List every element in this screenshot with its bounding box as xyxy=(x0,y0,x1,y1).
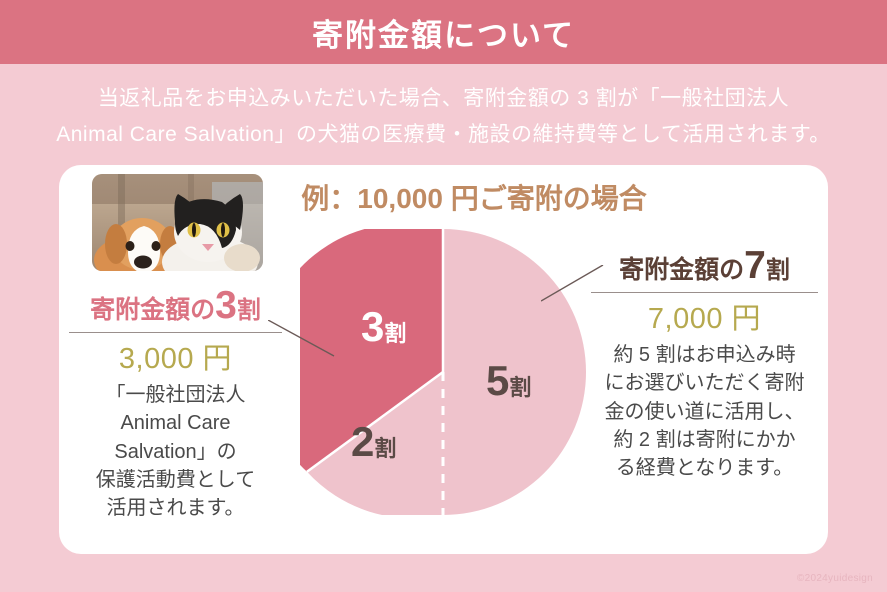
page-title: 寄附金額について xyxy=(312,10,575,55)
donation-pie-chart: 3割 5割 2割 xyxy=(300,229,586,515)
dog-and-cat-photo xyxy=(92,174,263,271)
callout-right-body-line: にお選びいただく寄附 xyxy=(581,369,828,397)
callout-right-body: 約 5 割はお申込み時 にお選びいただく寄附 金の使い道に活用し、 約 2 割は… xyxy=(581,341,828,483)
callout-right-body-line: 約 2 割は寄附にかか xyxy=(581,426,828,454)
pie-label-3wari: 3割 xyxy=(361,306,406,348)
callout-left-body-line: Animal Care xyxy=(59,409,292,437)
callout-left-body-line: 活用されます。 xyxy=(59,494,292,522)
callout-left-body-line: 「一般社団法人 xyxy=(59,381,292,409)
example-heading: 例：10,000 円ご寄附の場合 xyxy=(274,177,674,217)
callout-right-body-line: る経費となります。 xyxy=(581,454,828,482)
callout-left-rule xyxy=(69,332,282,333)
lead-line-2: Animal Care Salvation」の犬猫の医療費・施設の維持費等として… xyxy=(56,118,831,148)
callout-right: 寄附金額の7割 7,000 円 約 5 割はお申込み時 にお選びいただく寄附 金… xyxy=(581,245,828,483)
callout-left-body-line: Salvation」の xyxy=(59,438,292,466)
lead-line-1: 当返礼品をお申込みいただいた場合、寄附金額の 3 割が「一般社団法人 xyxy=(98,82,789,112)
photo-illustration xyxy=(92,174,263,271)
content-card: 例：10,000 円ご寄附の場合 3割 5割 2割 xyxy=(59,165,828,554)
pie-svg xyxy=(300,229,586,515)
callout-left-body: 「一般社団法人 Animal Care Salvation」の 保護活動費として… xyxy=(59,381,292,523)
callout-right-rule xyxy=(591,292,818,293)
callout-left: 寄附金額の3割 3,000 円 「一般社団法人 Animal Care Salv… xyxy=(59,285,292,523)
callout-left-body-line: 保護活動費として xyxy=(59,466,292,494)
callout-right-amount: 7,000 円 xyxy=(581,295,828,337)
lead-paragraph: 当返礼品をお申込みいただいた場合、寄附金額の 3 割が「一般社団法人 Anima… xyxy=(0,64,887,165)
callout-left-amount: 3,000 円 xyxy=(59,335,292,377)
pie-label-2wari: 2割 xyxy=(351,421,396,463)
callout-right-body-line: 約 5 割はお申込み時 xyxy=(581,341,828,369)
callout-right-body-line: 金の使い道に活用し、 xyxy=(581,398,828,426)
page-header: 寄附金額について xyxy=(0,0,887,64)
callout-left-heading: 寄附金額の3割 xyxy=(59,285,292,328)
pie-label-5wari: 5割 xyxy=(486,360,531,402)
watermark: ©2024yuidesign xyxy=(797,573,873,584)
callout-right-heading: 寄附金額の7割 xyxy=(581,245,828,288)
